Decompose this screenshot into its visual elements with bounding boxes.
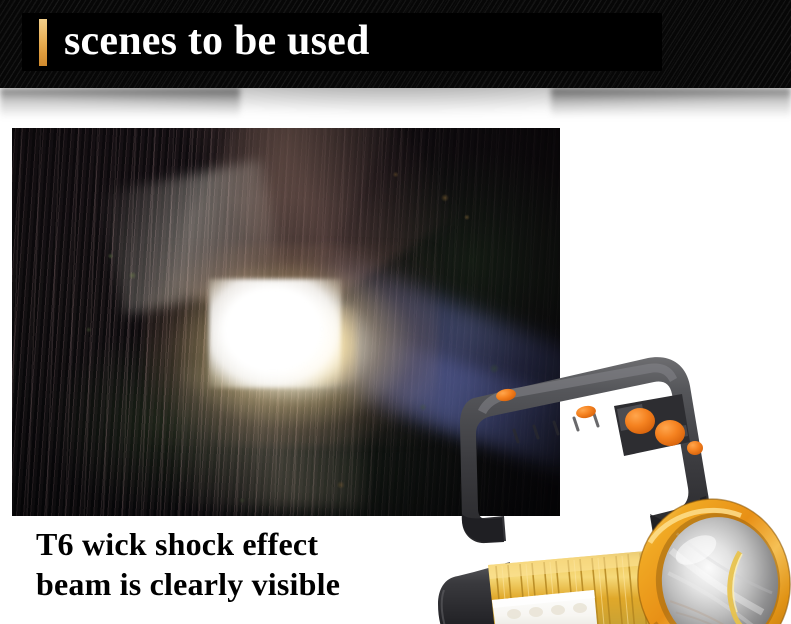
flashlight-mode-button-2 [655, 420, 685, 446]
header-banner: scenes to be used [0, 0, 791, 88]
flashlight-head [627, 489, 791, 624]
header-drop-shadow [0, 88, 791, 126]
product-flashlight-image [418, 338, 791, 624]
page-title: scenes to be used [64, 12, 370, 70]
flashlight-mode-button-1 [625, 408, 655, 434]
header-shadow-right [551, 88, 791, 118]
header-shadow-left [0, 88, 240, 118]
header-shadow-curve [0, 88, 791, 122]
header-accent-bar [39, 19, 47, 66]
flashlight-indicator-button [687, 441, 703, 455]
